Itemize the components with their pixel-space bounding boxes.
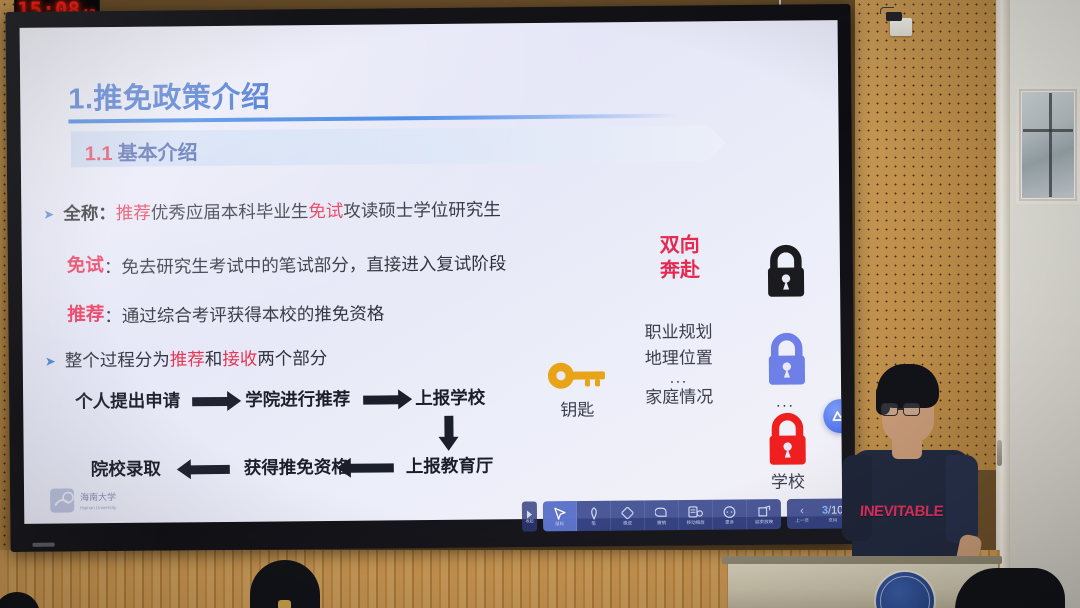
proc-seg-2: 推荐: [170, 349, 205, 369]
slide-line-3-body: ：通过综合考评获得本校的推免资格: [104, 303, 384, 326]
line1-label: 全称：: [63, 203, 116, 224]
factor-location: 地理位置: [623, 345, 735, 372]
svg-text:Hainan University: Hainan University: [80, 505, 117, 510]
pen-icon: [588, 506, 598, 519]
annotation-toolbar[interactable]: 收起 鼠标 笔 橡皮 撤销: [522, 498, 849, 531]
section-name: 基本介绍: [118, 142, 198, 165]
slide-line-3-label: 推荐: [67, 304, 104, 324]
tool-pen[interactable]: 笔: [577, 501, 611, 531]
exit-show-icon: [757, 505, 771, 518]
flow-arrow-1: [192, 397, 228, 406]
window-mullion-h: [1023, 129, 1073, 132]
university-logo: 海南大学 Hainan University: [50, 485, 136, 516]
emblem-ring: [880, 576, 930, 608]
presentation-display: 1.推免政策介绍 1.1基本介绍 ➤ 全称：推荐优秀应届本科毕业生免试攻读硕士学…: [5, 4, 855, 552]
slide-line-2-body: ：免去研究生考试中的笔试部分，直接进入复试阶段: [104, 253, 507, 277]
section-number: 1.1: [85, 143, 113, 165]
lock-black-icon: [762, 242, 811, 300]
tool-cursor[interactable]: 鼠标: [543, 501, 577, 531]
tool-more[interactable]: 更多: [713, 499, 747, 529]
window-frame: [1016, 86, 1080, 204]
display-brand-label: [33, 543, 55, 547]
line1-seg-2: 优秀应届本科毕业生: [151, 201, 309, 223]
chevron-left-icon: ‹: [800, 505, 804, 516]
lock-ellipsis: ...: [776, 396, 795, 410]
glasses-lens-left: [881, 403, 898, 416]
collapse-label: 收起: [526, 519, 534, 523]
flow-arrow-3: [444, 416, 453, 438]
line1-seg-3: 免试: [308, 201, 343, 221]
flow-node-apply: 个人提出申请: [75, 390, 180, 411]
proc-seg-1: 整个过程分为: [65, 350, 170, 371]
slide-line-1: 全称：推荐优秀应届本科毕业生免试攻读硕士学位研究生: [63, 199, 501, 223]
tool-pen-label: 笔: [591, 520, 596, 525]
headline-line-2: 奔赴: [638, 258, 722, 284]
page-label: 页码: [828, 517, 837, 522]
flow-node-report-school: 上报学校: [415, 387, 485, 408]
glasses-lens-right: [903, 403, 920, 416]
tool-button-group[interactable]: 鼠标 笔 橡皮 撤销 移动缩放: [543, 499, 781, 531]
tool-eraser[interactable]: 橡皮: [611, 500, 645, 530]
power-cable: [880, 7, 894, 14]
audience-1-hair-clip: [278, 600, 291, 608]
bullet-arrow-icon-2: ➤: [45, 355, 56, 368]
slide-line-2-label: 免试: [67, 255, 104, 275]
flow-arrow-4: [190, 465, 230, 474]
flow-node-report-education-dept: 上报教育厅: [406, 455, 494, 476]
tool-undo-label: 撤销: [657, 520, 666, 525]
factor-family: 家庭情况: [623, 384, 735, 411]
section-subtitle: 1.1基本介绍: [85, 136, 198, 166]
prev-page-button[interactable]: ‹ 上一页: [787, 499, 817, 529]
svg-text:海南大学: 海南大学: [80, 491, 116, 502]
tool-cursor-label: 鼠标: [555, 521, 564, 526]
tool-exit-show[interactable]: 结束放映: [747, 499, 781, 529]
more-icon: [723, 505, 736, 518]
window-glass: [1022, 92, 1074, 198]
flow-arrow-2: [363, 395, 399, 404]
tool-exit-show-label: 结束放映: [755, 519, 773, 524]
flow-node-college-recommend: 学院进行推荐: [245, 389, 350, 410]
flow-node-admitted: 院校录取: [91, 459, 161, 480]
proc-seg-3: 和: [205, 349, 223, 369]
undo-icon: [654, 506, 668, 519]
glasses-bridge: [898, 408, 904, 410]
lock-red-icon: [763, 410, 812, 468]
factor-list: 职业规划 地理位置 ... 家庭情况: [622, 319, 735, 411]
lock-blue-icon: [763, 330, 812, 388]
tool-pan-zoom[interactable]: 移动缩放: [679, 500, 713, 530]
cursor-icon: [553, 507, 565, 520]
presenter-sleeve-right: [946, 455, 978, 543]
factor-career: 职业规划: [622, 319, 734, 346]
flow-node-get-qualification: 获得推免资格: [244, 457, 349, 478]
flow-arrow-5: [350, 463, 394, 472]
tool-eraser-label: 橡皮: [623, 520, 632, 525]
illustration-headline: 双向 奔赴: [638, 233, 722, 284]
bullet-arrow-icon-1: ➤: [43, 208, 54, 221]
slide-title: 1.推免政策介绍: [68, 74, 271, 118]
key-label: 钥匙: [549, 400, 605, 421]
podium-top-edge: [722, 556, 1002, 564]
pan-zoom-icon: [688, 505, 703, 518]
wall-socket: [890, 18, 912, 36]
slide-process-line: 整个过程分为推荐和接收两个部分: [65, 348, 328, 371]
tool-undo[interactable]: 撤销: [645, 500, 679, 530]
shirt-graphic-text: INEVITABLE: [859, 503, 943, 520]
presenter-sleeve-left: [842, 455, 872, 541]
proc-seg-4: 接收: [222, 349, 257, 369]
chevron-right-icon: [527, 510, 532, 518]
key-icon: [547, 360, 607, 391]
line1-seg-4: 攻读硕士学位研究生: [343, 199, 501, 221]
tool-pan-zoom-label: 移动缩放: [687, 519, 705, 524]
school-label: 学校: [760, 472, 816, 493]
tool-more-label: 更多: [725, 519, 734, 524]
proc-seg-5: 两个部分: [257, 348, 327, 369]
line1-seg-1: 推荐: [116, 203, 151, 223]
prev-page-label: 上一页: [795, 517, 809, 522]
headline-line-1: 双向: [638, 233, 722, 259]
eraser-icon: [621, 506, 634, 519]
window-mullion-v: [1049, 93, 1052, 197]
toolbar-collapse-button[interactable]: 收起: [522, 501, 537, 531]
slide-canvas[interactable]: 1.推免政策介绍 1.1基本介绍 ➤ 全称：推荐优秀应届本科毕业生免试攻读硕士学…: [20, 20, 843, 524]
factor-ellipsis: ...: [623, 371, 735, 385]
